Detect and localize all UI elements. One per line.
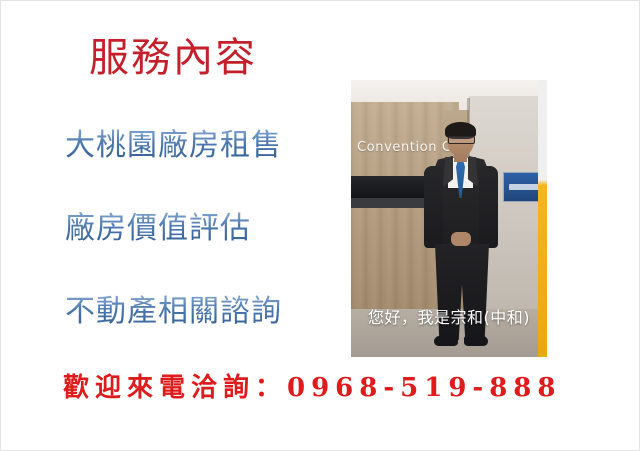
slide-canvas: 服務內容 大桃園廠房租售 廠房價值評估 不動產相關諮詢 歡迎來電洽詢：0968-… [0,0,640,451]
call-to-action-phone: 歡迎來電洽詢：0968-519-888 [63,373,562,404]
shoe-left [434,336,458,346]
photo-caption: 您好，我是宗和(中和) [351,304,547,328]
hands [451,232,471,246]
shoe-right [464,336,488,346]
service-item-3: 不動產相關諮詢 [65,295,282,330]
service-item-2: 廠房價值評估 [65,212,251,247]
profile-photo: Convention Ce [351,80,547,357]
service-item-1: 大桃園廠房租售 [65,129,282,164]
left-arm [424,166,443,248]
page-title: 服務內容 [89,35,257,81]
glasses-icon [448,136,475,144]
right-arm [479,166,498,248]
